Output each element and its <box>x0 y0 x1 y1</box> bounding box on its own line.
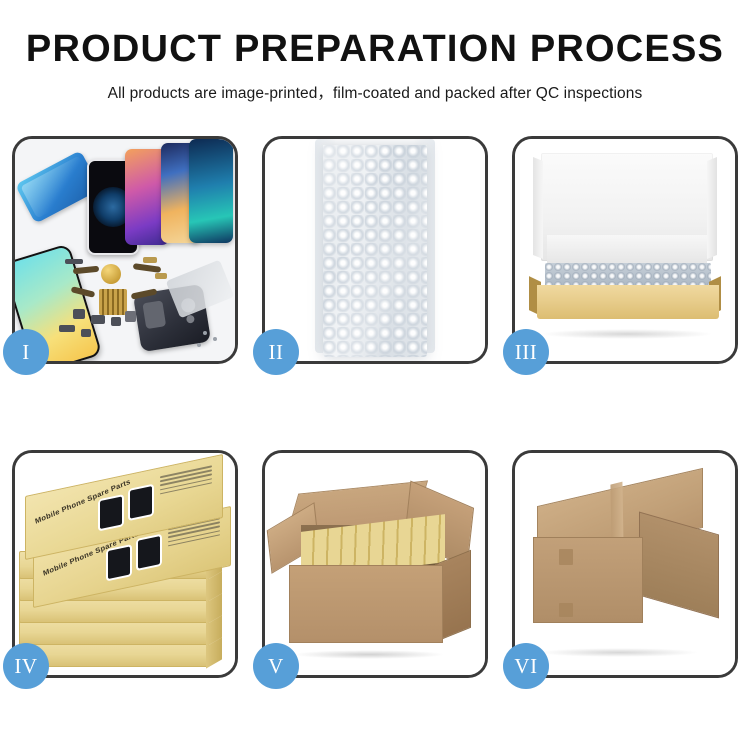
step-badge-4: IV <box>3 643 49 689</box>
part-flex-cable-2 <box>133 263 162 273</box>
process-steps-grid: I II III <box>12 136 738 736</box>
page-title: PRODUCT PREPARATION PROCESS <box>0 30 750 70</box>
step-badge-2: II <box>253 329 299 375</box>
step-badge-5: V <box>253 643 299 689</box>
step-panel-6: VI <box>512 450 738 678</box>
retail-box-screen-img-4 <box>138 536 160 569</box>
part-small-2 <box>91 315 105 324</box>
step-badge-6: VI <box>503 643 549 689</box>
sealed-carton-shadow <box>539 648 699 657</box>
step-image-open-mailer-box <box>515 139 735 361</box>
part-small-5 <box>59 325 75 332</box>
page-subtitle: All products are image-printed，film-coat… <box>0 81 750 103</box>
mailer-box-lid-side-left <box>533 157 543 259</box>
part-small-6 <box>81 329 91 337</box>
carton-front-panel <box>289 565 443 643</box>
bubble-wrap-package <box>323 145 427 357</box>
mailer-box-lid-side-right <box>707 157 717 259</box>
step-badge-3: III <box>503 329 549 375</box>
retail-box-screen-img-1 <box>100 496 122 529</box>
step-image-open-carton-filled <box>265 453 485 675</box>
step-image-bubble-wrapped-phone <box>265 139 485 361</box>
part-small-3 <box>111 317 121 326</box>
retail-box-stack: Mobile Phone Spare Parts Mobile Phone Sp… <box>19 471 233 667</box>
product-preparation-infographic: PRODUCT PREPARATION PROCESS All products… <box>0 0 750 750</box>
carton-shadow <box>293 650 445 659</box>
part-chip-1 <box>143 257 157 263</box>
step-image-stacked-retail-boxes: Mobile Phone Spare Parts Mobile Phone Sp… <box>15 453 235 675</box>
step-panel-3: III <box>512 136 738 364</box>
step-image-sealed-carton <box>515 453 735 675</box>
sealed-carton-front-panel <box>533 537 643 623</box>
bubble-wrap-sheen <box>323 145 427 357</box>
retail-box-screen-img-2 <box>130 486 152 519</box>
step-panel-4: Mobile Phone Spare Parts Mobile Phone Sp… <box>12 450 238 678</box>
sealed-carton-tab-lower <box>559 603 573 617</box>
step-image-phone-parts-collage <box>15 139 235 361</box>
header: PRODUCT PREPARATION PROCESS All products… <box>0 0 750 103</box>
retail-box-textlines-1 <box>160 465 212 497</box>
step-badge-1: I <box>3 329 49 375</box>
part-sim-tray-grid <box>99 289 127 315</box>
step-panel-5: V <box>262 450 488 678</box>
mailer-box-shadow <box>541 329 713 339</box>
phone-teal <box>189 139 233 243</box>
part-flex-cable-1 <box>73 266 99 275</box>
part-coin-connector <box>101 264 121 284</box>
part-screw-1 <box>203 331 207 335</box>
sealed-carton-side-panel <box>639 512 719 619</box>
part-battery-strip <box>65 259 83 264</box>
mailer-box-front-panel <box>537 285 719 319</box>
part-small-1 <box>73 309 85 319</box>
step-panel-2: II <box>262 136 488 364</box>
part-small-4 <box>125 311 136 322</box>
part-chip-2 <box>155 273 167 279</box>
retail-box-screen-img-3 <box>108 546 130 579</box>
part-screw-3 <box>197 343 201 347</box>
sealed-carton-tab-upper <box>559 549 573 565</box>
part-screw-2 <box>213 337 217 341</box>
step-panel-1: I <box>12 136 238 364</box>
